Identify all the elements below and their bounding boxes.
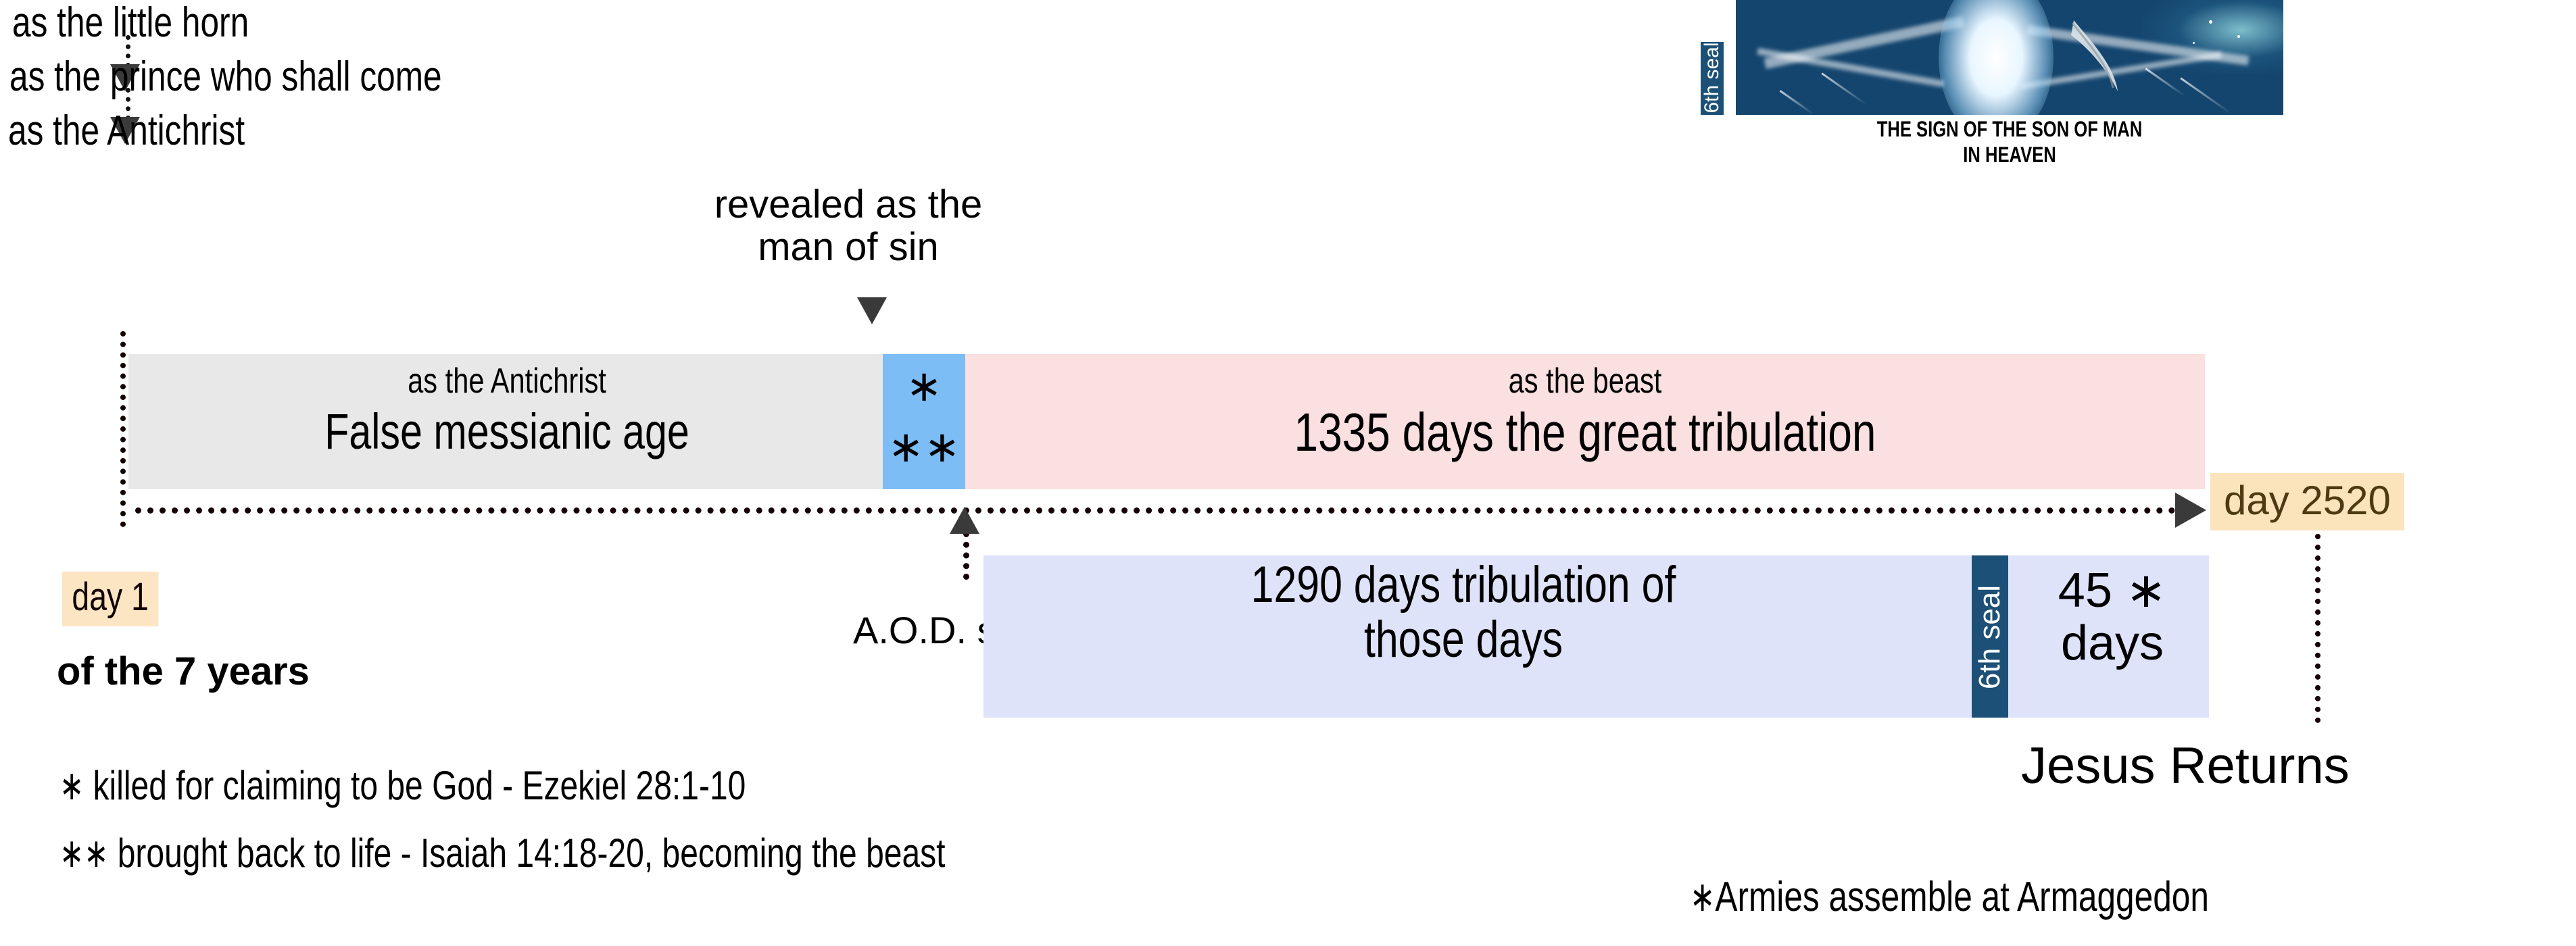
star-speck — [2209, 20, 2212, 24]
arrow-down-icon — [857, 297, 887, 324]
caption-line-2: IN HEAVEN — [1791, 142, 2229, 168]
label-antichrist: as the Antichrist — [8, 107, 245, 155]
asterisk-double-marker: ∗∗ — [883, 422, 965, 472]
bar-false-messianic-age-text: as the Antichrist False messianic age — [128, 361, 885, 460]
badge-day-1[interactable]: day 1 — [62, 572, 158, 626]
sixth-seal-label-top: 6th seal — [1701, 36, 1724, 120]
label-jesus-returns: Jesus Returns — [2021, 737, 2350, 795]
sign-of-son-of-man-image — [1736, 0, 2283, 115]
timeline-baseline-dotted-line — [135, 507, 2200, 514]
label-of-the-7-years: of the 7 years — [57, 649, 310, 694]
pink-bar-subtitle: as the beast — [1089, 361, 2081, 401]
star-speck — [2237, 35, 2240, 38]
sixth-seal-label-lower: 6th seal — [1973, 566, 2007, 708]
arrow-right-icon — [2175, 493, 2206, 528]
revealed-line-2: man of sin — [673, 226, 1024, 269]
footnote-3: ∗Armies assemble at Armaggedon — [1690, 872, 2209, 921]
sixth-seal-figure: 6th seal THE SIGN OF THE SON OF MAN IN H… — [1736, 0, 2283, 115]
lower-bar-line-1: 1290 days tribulation of — [1079, 558, 1847, 613]
gray-bar-title: False messianic age — [204, 403, 810, 460]
badge-day-2520[interactable]: day 2520 — [2210, 473, 2404, 530]
annotation-revealed-as-man-of-sin: revealed as the man of sin — [673, 184, 1024, 268]
gray-bar-subtitle: as the Antichrist — [204, 361, 810, 401]
footnote-1: ∗ killed for claiming to be God - Ezekie… — [59, 762, 746, 810]
label-45-days: 45 ∗ days — [2021, 565, 2204, 670]
timeline-start-dotted-line — [120, 331, 126, 527]
label-45-line-2: days — [2021, 618, 2204, 670]
sixth-seal-marker-lower[interactable]: 6th seal — [1972, 555, 2008, 718]
sixth-seal-marker-top[interactable]: 6th seal — [1701, 42, 1724, 115]
figure-caption: THE SIGN OF THE SON OF MAN IN HEAVEN — [1736, 116, 2283, 168]
pink-bar-title: 1335 days the great tribulation — [1089, 401, 2081, 464]
asterisk-single-marker: ∗ — [883, 361, 965, 412]
footnote-2: ∗∗ brought back to life - Isaiah 14:18-2… — [59, 830, 945, 877]
arrow-up-icon — [950, 507, 979, 534]
bar-great-tribulation-text: as the beast 1335 days the great tribula… — [965, 361, 2205, 464]
bar-1290-days-text: 1290 days tribulation of those days — [983, 558, 1943, 667]
timeline-end-dotted-line — [2315, 534, 2320, 723]
label-prince-who-shall-come: as the prince who shall come — [9, 53, 442, 101]
label-little-horn: as the little horn — [12, 0, 249, 47]
revealed-line-1: revealed as the — [673, 184, 1024, 226]
hook-shape-icon — [1736, 0, 2283, 115]
aod-dotted-line — [963, 531, 969, 580]
label-45-line-1: 45 ∗ — [2021, 565, 2204, 618]
star-speck — [2193, 42, 2195, 44]
lower-bar-line-2: those days — [1079, 613, 1847, 668]
caption-line-1: THE SIGN OF THE SON OF MAN — [1791, 116, 2229, 142]
